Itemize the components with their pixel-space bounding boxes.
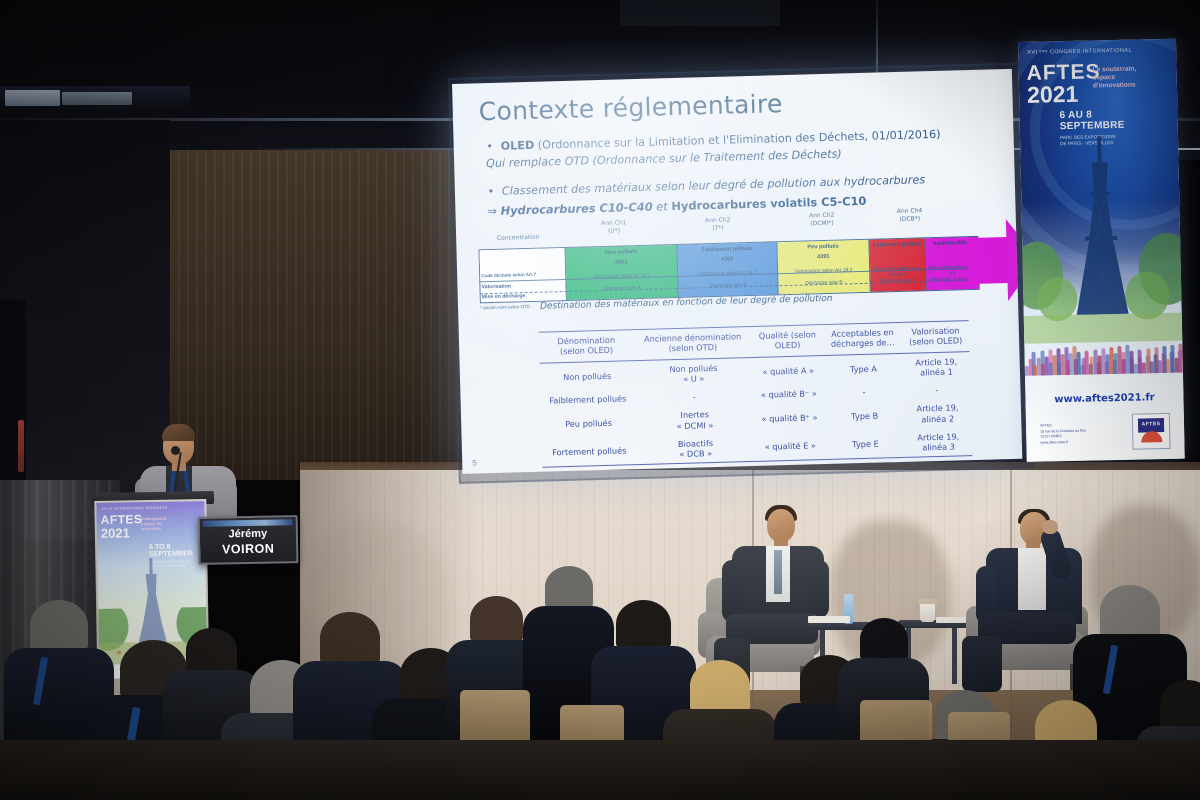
podium-poster-tagline: Underground, a space for innovation xyxy=(141,515,199,532)
table-body: Non polluésNon pollués« U »« qualité A »… xyxy=(540,351,973,467)
slide-bullets: • OLED (Ordonnance sur la Limitation et … xyxy=(486,126,988,218)
magenta-arrow-icon xyxy=(966,214,1023,306)
table-cell-r3-c1: Bioactifs« DCB » xyxy=(636,433,755,465)
ceiling-light-left xyxy=(5,90,60,106)
table-cell-r3-c2: « qualité E » xyxy=(754,431,826,462)
nameplate-first-name: Jérémy xyxy=(200,527,296,541)
garden-greenery xyxy=(1022,221,1182,344)
poster-address: AFTES 15 rue de la Fontaine au Roi 75127… xyxy=(1040,423,1086,446)
diagram-head-2-l2: (T*) xyxy=(688,224,748,233)
table-cell-r3-c0: Fortement pollués xyxy=(542,436,637,468)
speaker-nameplate-display: Jérémy VOIRON xyxy=(198,515,299,565)
poster-date-2: SEPTEMBRE xyxy=(1060,120,1125,132)
arrow-part-2: Hydrocarbures volatils C5-C10 xyxy=(671,194,866,213)
table-header-0: Dénomination(selon OLED) xyxy=(539,330,634,363)
band-4-code xyxy=(870,251,925,252)
ceiling-light-left-2 xyxy=(62,92,132,105)
poster-date: 6 AU 8 SEPTEMBRE xyxy=(1059,110,1124,132)
table-header-4: Valorisation(selon OLED) xyxy=(902,321,970,353)
band-3-title: Peu pollués xyxy=(777,243,868,251)
exit-marker xyxy=(18,420,24,472)
bullet-1-bold: OLED xyxy=(501,139,535,153)
table-header-1: Ancienne dénomination(selon OTD) xyxy=(633,326,752,360)
panelist-left-tie xyxy=(774,550,782,594)
table-cell-r2-c4: Article 19,alinéa 2 xyxy=(904,399,972,429)
panelist-right-hand xyxy=(1042,520,1058,534)
table-cell-r0-c1: Non pollués« U » xyxy=(634,357,753,389)
coffee-cup-lid xyxy=(918,599,937,604)
table-header-2: Qualité (selonOLED) xyxy=(751,325,823,358)
table-cell-r0-c2: « qualité A » xyxy=(752,355,824,386)
crowd-figure xyxy=(1182,357,1183,373)
table-cell-r2-c2: « qualité B⁺ » xyxy=(754,402,826,432)
projection-screen: Contexte réglementaire • OLED (Ordonnanc… xyxy=(452,69,1022,474)
band-0-title xyxy=(480,251,565,253)
table-cell-r3-c4: Article 19,alinéa 3 xyxy=(905,427,973,458)
table-cell-r0-c4: Article 19,alinéa 1 xyxy=(903,351,971,382)
diagram-head-0-l1: Concentration xyxy=(486,233,550,242)
table-cell-r0-c3: Type A xyxy=(824,353,904,384)
diagram-rowlabel-1: Valorisation xyxy=(481,283,511,290)
podium-poster-congress: XVI th INTERNATIONAL CONGRESS xyxy=(101,506,167,511)
arrow-part-1: Hydrocarbures C10-C40 xyxy=(500,199,652,217)
band-1-code: 4301 xyxy=(566,258,677,267)
table-cell-r2-c3: Type B xyxy=(825,400,905,431)
papers-on-table-right xyxy=(936,617,966,623)
panelist-right-shirt xyxy=(1018,548,1046,610)
pollution-band-diagram: Concentration Ann Ch1 (U*) Ann Ch2 (T*) … xyxy=(478,209,1001,323)
aftes-logo-text: AFTES xyxy=(1138,421,1164,428)
diagram-head-1-l2: (U*) xyxy=(584,226,644,235)
band-0-code xyxy=(480,261,565,263)
nameplate-header-strip xyxy=(203,519,293,527)
foreground-floor xyxy=(0,740,1200,800)
panelist-right-leg xyxy=(962,636,1002,692)
podium-poster-date: 6 TO 8 SEPTEMBER xyxy=(149,543,193,558)
aftes-poster: XVI ᵉᵐᵉ CONGRES INTERNATIONAL AFTES 2021… xyxy=(1018,39,1185,462)
aftes-logo: AFTES xyxy=(1132,413,1171,450)
poster-tagline: Le souterrain, espace d'innovations xyxy=(1093,65,1173,91)
band-2-title: Faiblement pollués xyxy=(678,245,777,254)
band-2-code: 4302 xyxy=(678,255,777,264)
table-cell-r1-c4: - xyxy=(903,380,970,400)
diagram-rowlabel-2: Mise en décharge xyxy=(482,293,526,300)
ceiling-duct xyxy=(620,0,780,26)
papers-on-table xyxy=(808,616,850,623)
arrow-joiner: et xyxy=(652,199,671,214)
band-3-code: 4391 xyxy=(778,253,869,261)
poster-tagline-3: d'innovations xyxy=(1093,81,1173,91)
aftes-logo-arc xyxy=(1141,431,1162,442)
band-1-title: Non pollués xyxy=(566,248,677,257)
panelist-left-arm-r xyxy=(808,560,829,618)
speaker-hair xyxy=(162,424,195,441)
poster-crowd xyxy=(1024,333,1183,376)
conference-photo-scene: Contexte réglementaire • OLED (Ordonnanc… xyxy=(0,0,1200,800)
microphone-head xyxy=(171,446,180,455)
band-cell-1: Non pollués4301Valorisation selon Art 19… xyxy=(565,245,678,300)
podium-tagline-3: innovation xyxy=(141,526,199,532)
panel-table-right-leg-2 xyxy=(952,628,957,684)
bullet-marker: • xyxy=(486,139,494,155)
band-4-title: Fortement pollués xyxy=(869,241,924,248)
diagram-head-3-l2: (DCMI*) xyxy=(790,219,854,228)
podium-poster-brand: AFTES xyxy=(101,514,143,526)
arrow-symbol: ⇒ xyxy=(487,204,497,218)
band-cell-4: Fortement polluésNon valorisable selon A… xyxy=(869,238,926,291)
table-cell-r2-c0: Peu pollués xyxy=(541,408,636,439)
slide-title: Contexte réglementaire xyxy=(478,89,783,126)
table-cell-r1-c3: - xyxy=(824,382,904,402)
table-cell-r2-c1: Inertes« DCMI » xyxy=(635,404,754,436)
poster-brand: AFTES xyxy=(1026,62,1100,83)
table-header-3: Acceptables endécharges de… xyxy=(823,322,903,355)
poster-year: 2021 xyxy=(1027,81,1079,109)
coffee-cup xyxy=(920,602,935,622)
bullet-marker-2: • xyxy=(487,184,495,200)
oled-otd-comparison-table: Dénomination(selon OLED)Ancienne dénomin… xyxy=(539,320,973,468)
podium-poster-year: 2021 xyxy=(101,525,130,541)
band-cell-3: Peu pollués4391Valorisation selon Art 19… xyxy=(777,240,870,294)
diagram-footnote: * ancien nom selon OTD xyxy=(480,304,530,310)
diagram-head-4-l2: (DCB*) xyxy=(878,214,942,223)
band-cell-2: Faiblement pollués4302Valorisation selon… xyxy=(677,242,778,297)
table-cell-r1-c2: « qualité B⁻ » xyxy=(753,384,825,404)
panelist-left-arm-l xyxy=(722,560,744,622)
poster-addr-4: www.aftes.asso.fr xyxy=(1040,439,1085,445)
table-cell-r0-c0: Non pollués xyxy=(540,360,635,392)
slide-number: 5 xyxy=(472,458,477,467)
table-cell-r3-c3: Type E xyxy=(826,429,906,460)
nameplate-last-name: VOIRON xyxy=(200,541,296,557)
